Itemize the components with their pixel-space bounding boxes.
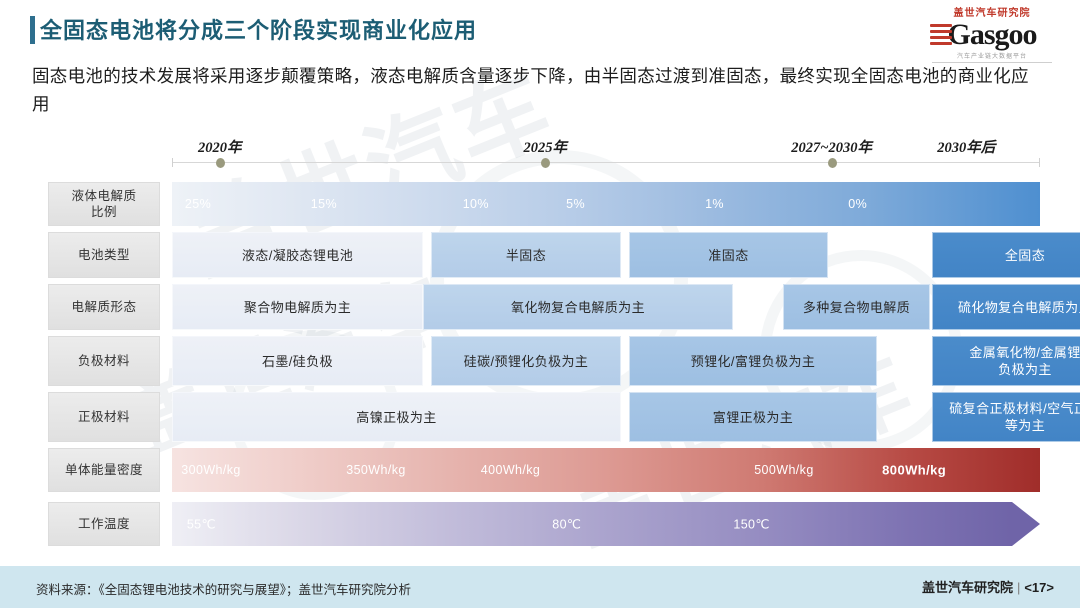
row-label-0: 液体电解质比例 bbox=[48, 182, 160, 226]
matrix-cell-battery_type-1: 半固态 bbox=[431, 232, 621, 278]
page-title: 全固态电池将分成三个阶段实现商业化应用 bbox=[40, 13, 477, 45]
logo-wordmark-rest: asgoo bbox=[970, 18, 1037, 51]
band-value-liquid_ratio-3: 5% bbox=[566, 197, 585, 211]
matrix-cell-electrolyte_form-1: 氧化物复合电解质为主 bbox=[423, 284, 733, 330]
timeline-label-3: 2030年后 bbox=[937, 136, 995, 157]
timeline-start-cap bbox=[172, 158, 173, 167]
footer-page-number: <17> bbox=[1024, 580, 1054, 595]
logo-wordmark: Gasgoo bbox=[922, 20, 1062, 50]
temperature-arrow-icon bbox=[1012, 502, 1040, 546]
timeline-label-2: 2027~2030年 bbox=[791, 136, 872, 157]
timeline-dot-0 bbox=[216, 158, 225, 168]
band-value-energy_density-4: 800Wh/kg bbox=[882, 463, 946, 478]
footer-source: 资料来源：《全固态锂电池技术的研究与展望》；盖世汽车研究院分析 bbox=[36, 579, 411, 598]
timeline-label-0: 2020年 bbox=[198, 136, 242, 157]
matrix-cell-battery_type-2: 准固态 bbox=[629, 232, 828, 278]
row-label-6: 工作温度 bbox=[48, 502, 160, 546]
matrix-band-energy_density: 300Wh/kg350Wh/kg400Wh/kg500Wh/kg800Wh/kg bbox=[172, 448, 1040, 492]
band-value-energy_density-3: 500Wh/kg bbox=[754, 463, 813, 477]
slide-header: 全固态电池将分成三个阶段实现商业化应用 盖世汽车研究院 Gasgoo 汽车产业链… bbox=[0, 0, 1080, 128]
matrix-cell-cathode-2: 硫复合正极材料/空气正极等为主 bbox=[932, 392, 1080, 442]
band-value-temperature-2: 150℃ bbox=[733, 517, 770, 532]
timeline-line bbox=[172, 162, 1040, 163]
timeline-label-1: 2025年 bbox=[523, 136, 567, 157]
band-value-liquid_ratio-5: 0% bbox=[848, 197, 867, 211]
band-value-liquid_ratio-2: 10% bbox=[463, 197, 489, 211]
band-value-energy_density-0: 300Wh/kg bbox=[181, 463, 240, 477]
matrix-band-liquid_ratio: 25%15%10%5%1%0% bbox=[172, 182, 1040, 226]
matrix-cell-battery_type-3: 全固态 bbox=[932, 232, 1080, 278]
row-label-5: 单体能量密度 bbox=[48, 448, 160, 492]
band-value-liquid_ratio-0: 25% bbox=[185, 197, 211, 211]
slide-page: 全固态电池将分成三个阶段实现商业化应用 盖世汽车研究院 Gasgoo 汽车产业链… bbox=[0, 0, 1080, 608]
band-value-energy_density-1: 350Wh/kg bbox=[346, 463, 405, 477]
row-label-3: 负极材料 bbox=[48, 336, 160, 386]
timeline-dot-1 bbox=[541, 158, 550, 168]
matrix-cell-anode-1: 硅碳/预锂化负极为主 bbox=[431, 336, 621, 386]
row-label-4: 正极材料 bbox=[48, 392, 160, 442]
matrix-cell-cathode-1: 富锂正极为主 bbox=[629, 392, 877, 442]
footer-separator: | bbox=[1017, 580, 1020, 595]
temperature-bar: 55℃80℃150℃ bbox=[172, 502, 1012, 546]
row-label-1: 电池类型 bbox=[48, 232, 160, 278]
matrix-cell-electrolyte_form-2: 多种复合物电解质 bbox=[783, 284, 930, 330]
slide-subtitle: 固态电池的技术发展将采用逐步颠覆策略，液态电解质含量逐步下降，由半固态过渡到准固… bbox=[32, 62, 1044, 118]
matrix-cell-electrolyte_form-3: 硫化物复合电解质为主 bbox=[932, 284, 1080, 330]
slide-footer: 资料来源：《全固态锂电池技术的研究与展望》；盖世汽车研究院分析 盖世汽车研究院|… bbox=[0, 566, 1080, 608]
footer-brand: 盖世汽车研究院 bbox=[922, 580, 1013, 595]
gasgoo-logo: 盖世汽车研究院 Gasgoo 汽车产业链大数据平台 bbox=[922, 8, 1062, 70]
logo-bars-icon bbox=[930, 24, 952, 46]
matrix-cell-anode-2: 预锂化/富锂负极为主 bbox=[629, 336, 877, 386]
band-value-liquid_ratio-1: 15% bbox=[311, 197, 337, 211]
row-label-2: 电解质形态 bbox=[48, 284, 160, 330]
timeline-dot-2 bbox=[828, 158, 837, 168]
band-value-liquid_ratio-4: 1% bbox=[705, 197, 724, 211]
matrix-band-temperature: 55℃80℃150℃ bbox=[172, 502, 1040, 546]
matrix-cell-cathode-0: 高镍正极为主 bbox=[172, 392, 621, 442]
band-value-energy_density-2: 400Wh/kg bbox=[481, 463, 540, 477]
matrix-cell-battery_type-0: 液态/凝胶态锂电池 bbox=[172, 232, 423, 278]
band-value-temperature-0: 55℃ bbox=[187, 517, 216, 532]
matrix-cell-electrolyte_form-0: 聚合物电解质为主 bbox=[172, 284, 423, 330]
title-accent-bar bbox=[30, 16, 35, 44]
logo-tagline: 汽车产业链大数据平台 bbox=[922, 51, 1062, 60]
matrix-cell-anode-3: 金属氧化物/金属锂负极为主 bbox=[932, 336, 1080, 386]
matrix-cell-anode-0: 石墨/硅负极 bbox=[172, 336, 423, 386]
band-value-temperature-1: 80℃ bbox=[552, 517, 581, 532]
timeline-axis: 2020年2025年2027~2030年2030年后 bbox=[172, 136, 1040, 168]
timeline-end-cap bbox=[1039, 158, 1040, 167]
footer-brand-block: 盖世汽车研究院|<17> bbox=[922, 577, 1054, 596]
